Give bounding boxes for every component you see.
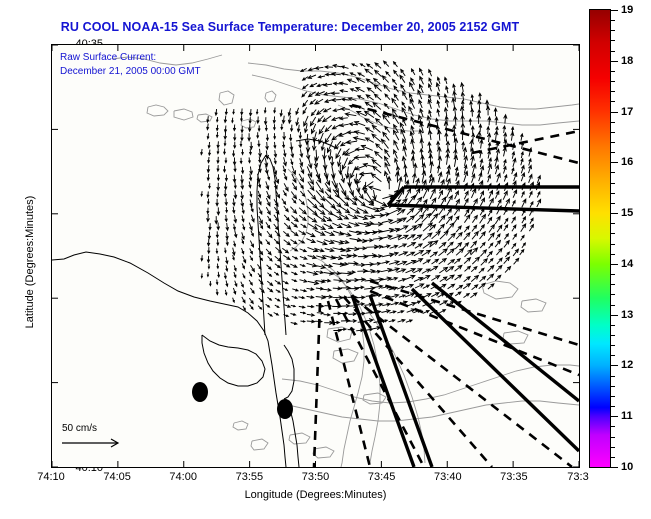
colorbar-tick-label-11: 11 (621, 410, 633, 422)
scale-bar-arrow (62, 439, 118, 447)
colorbar-tick-label-19: 19 (621, 4, 633, 16)
radar-station-marker-1[interactable] (277, 399, 293, 419)
colorbar-minor-tick (611, 467, 615, 468)
x-tick-label-1: 74:05 (103, 471, 131, 483)
colorbar-tick-label-13: 13 (621, 309, 633, 321)
colorbar-minor-tick (611, 20, 615, 21)
colorbar-tick-label-18: 18 (621, 55, 633, 67)
colorbar-minor-tick (611, 193, 615, 194)
colorbar-minor-tick (611, 264, 615, 265)
radar-ray-dashed-1 (370, 281, 579, 345)
annotation-line-2: December 21, 2005 00:00 GMT (60, 65, 201, 79)
colorbar-minor-tick (611, 335, 615, 336)
colorbar-minor-tick (611, 142, 615, 143)
colorbar-minor-tick (611, 416, 615, 417)
colorbar-minor-tick (611, 203, 615, 204)
x-tick-label-8: 73:3 (567, 471, 588, 483)
x-tick-label-6: 73:40 (434, 471, 462, 483)
colorbar-minor-tick (611, 254, 615, 255)
colorbar-minor-tick (611, 345, 615, 346)
colorbar-minor-tick (611, 122, 615, 123)
colorbar-minor-tick (611, 376, 615, 377)
colorbar-minor-tick (611, 437, 615, 438)
colorbar-minor-tick (611, 447, 615, 448)
colorbar-minor-tick (611, 40, 615, 41)
colorbar-minor-tick (611, 244, 615, 245)
colorbar-minor-tick (611, 355, 615, 356)
colorbar-minor-tick (611, 51, 615, 52)
colorbar-minor-tick (611, 426, 615, 427)
colorbar-minor-tick (611, 294, 615, 295)
x-tick-label-4: 73:50 (302, 471, 330, 483)
colorbar-minor-tick (611, 152, 615, 153)
map-plot-area[interactable]: Raw Surface Current: December 21, 2005 0… (51, 44, 580, 468)
colorbar-minor-tick (611, 30, 615, 31)
colorbar-minor-tick (611, 61, 615, 62)
x-tick-label-3: 73:55 (236, 471, 264, 483)
colorbar-tick-label-15: 15 (621, 207, 633, 219)
colorbar-tick-label-10: 10 (621, 461, 633, 473)
colorbar-minor-tick (611, 396, 615, 397)
colorbar-minor-tick (611, 213, 615, 214)
colorbar-tick-label-12: 12 (621, 359, 633, 371)
colorbar-minor-tick (611, 386, 615, 387)
colorbar-minor-tick (611, 172, 615, 173)
colorbar-tick-label-16: 16 (621, 156, 633, 168)
y-axis-title: Latitude (Degrees:Minutes) (24, 152, 36, 372)
colorbar-minor-tick (611, 162, 615, 163)
colorbar-minor-tick (611, 457, 615, 458)
x-tick-label-2: 74:00 (169, 471, 197, 483)
colorbar-minor-tick (611, 305, 615, 306)
radar-station-marker-0[interactable] (192, 382, 208, 402)
x-tick-label-7: 73:35 (500, 471, 528, 483)
radar-station-markers (192, 382, 293, 419)
bathymetry-contours (112, 55, 579, 467)
radar-ray-solid-6 (432, 283, 579, 401)
radar-ray-solid-5 (412, 289, 579, 451)
figure-title: RU COOL NOAA-15 Sea Surface Temperature:… (0, 20, 580, 34)
temperature-colorbar[interactable] (589, 9, 611, 468)
colorbar-minor-tick (611, 406, 615, 407)
colorbar-minor-tick (611, 101, 615, 102)
colorbar-minor-tick (611, 325, 615, 326)
radar-ray-dashed-4 (344, 297, 492, 467)
colorbar-minor-tick (611, 315, 615, 316)
scale-bar-label: 50 cm/s (62, 423, 97, 434)
colorbar-minor-tick (611, 112, 615, 113)
colorbar-minor-tick (611, 132, 615, 133)
colorbar-tick-label-17: 17 (621, 106, 633, 118)
annotation-line-1: Raw Surface Current: (60, 51, 156, 65)
colorbar-minor-tick (611, 183, 615, 184)
colorbar-minor-tick (611, 71, 615, 72)
colorbar-minor-tick (611, 284, 615, 285)
colorbar-minor-tick (611, 365, 615, 366)
colorbar-minor-tick (611, 81, 615, 82)
colorbar-minor-tick (611, 91, 615, 92)
colorbar-minor-tick (611, 274, 615, 275)
colorbar-minor-tick (611, 233, 615, 234)
x-axis-title: Longitude (Degrees:Minutes) (51, 489, 580, 501)
colorbar-minor-tick (611, 10, 615, 11)
x-tick-label-5: 73:45 (368, 471, 396, 483)
x-tick-label-0: 74:10 (37, 471, 65, 483)
colorbar-minor-tick (611, 223, 615, 224)
colorbar-tick-label-14: 14 (621, 258, 633, 270)
map-canvas (52, 45, 579, 467)
figure-root: RU COOL NOAA-15 Sea Surface Temperature:… (0, 0, 651, 519)
